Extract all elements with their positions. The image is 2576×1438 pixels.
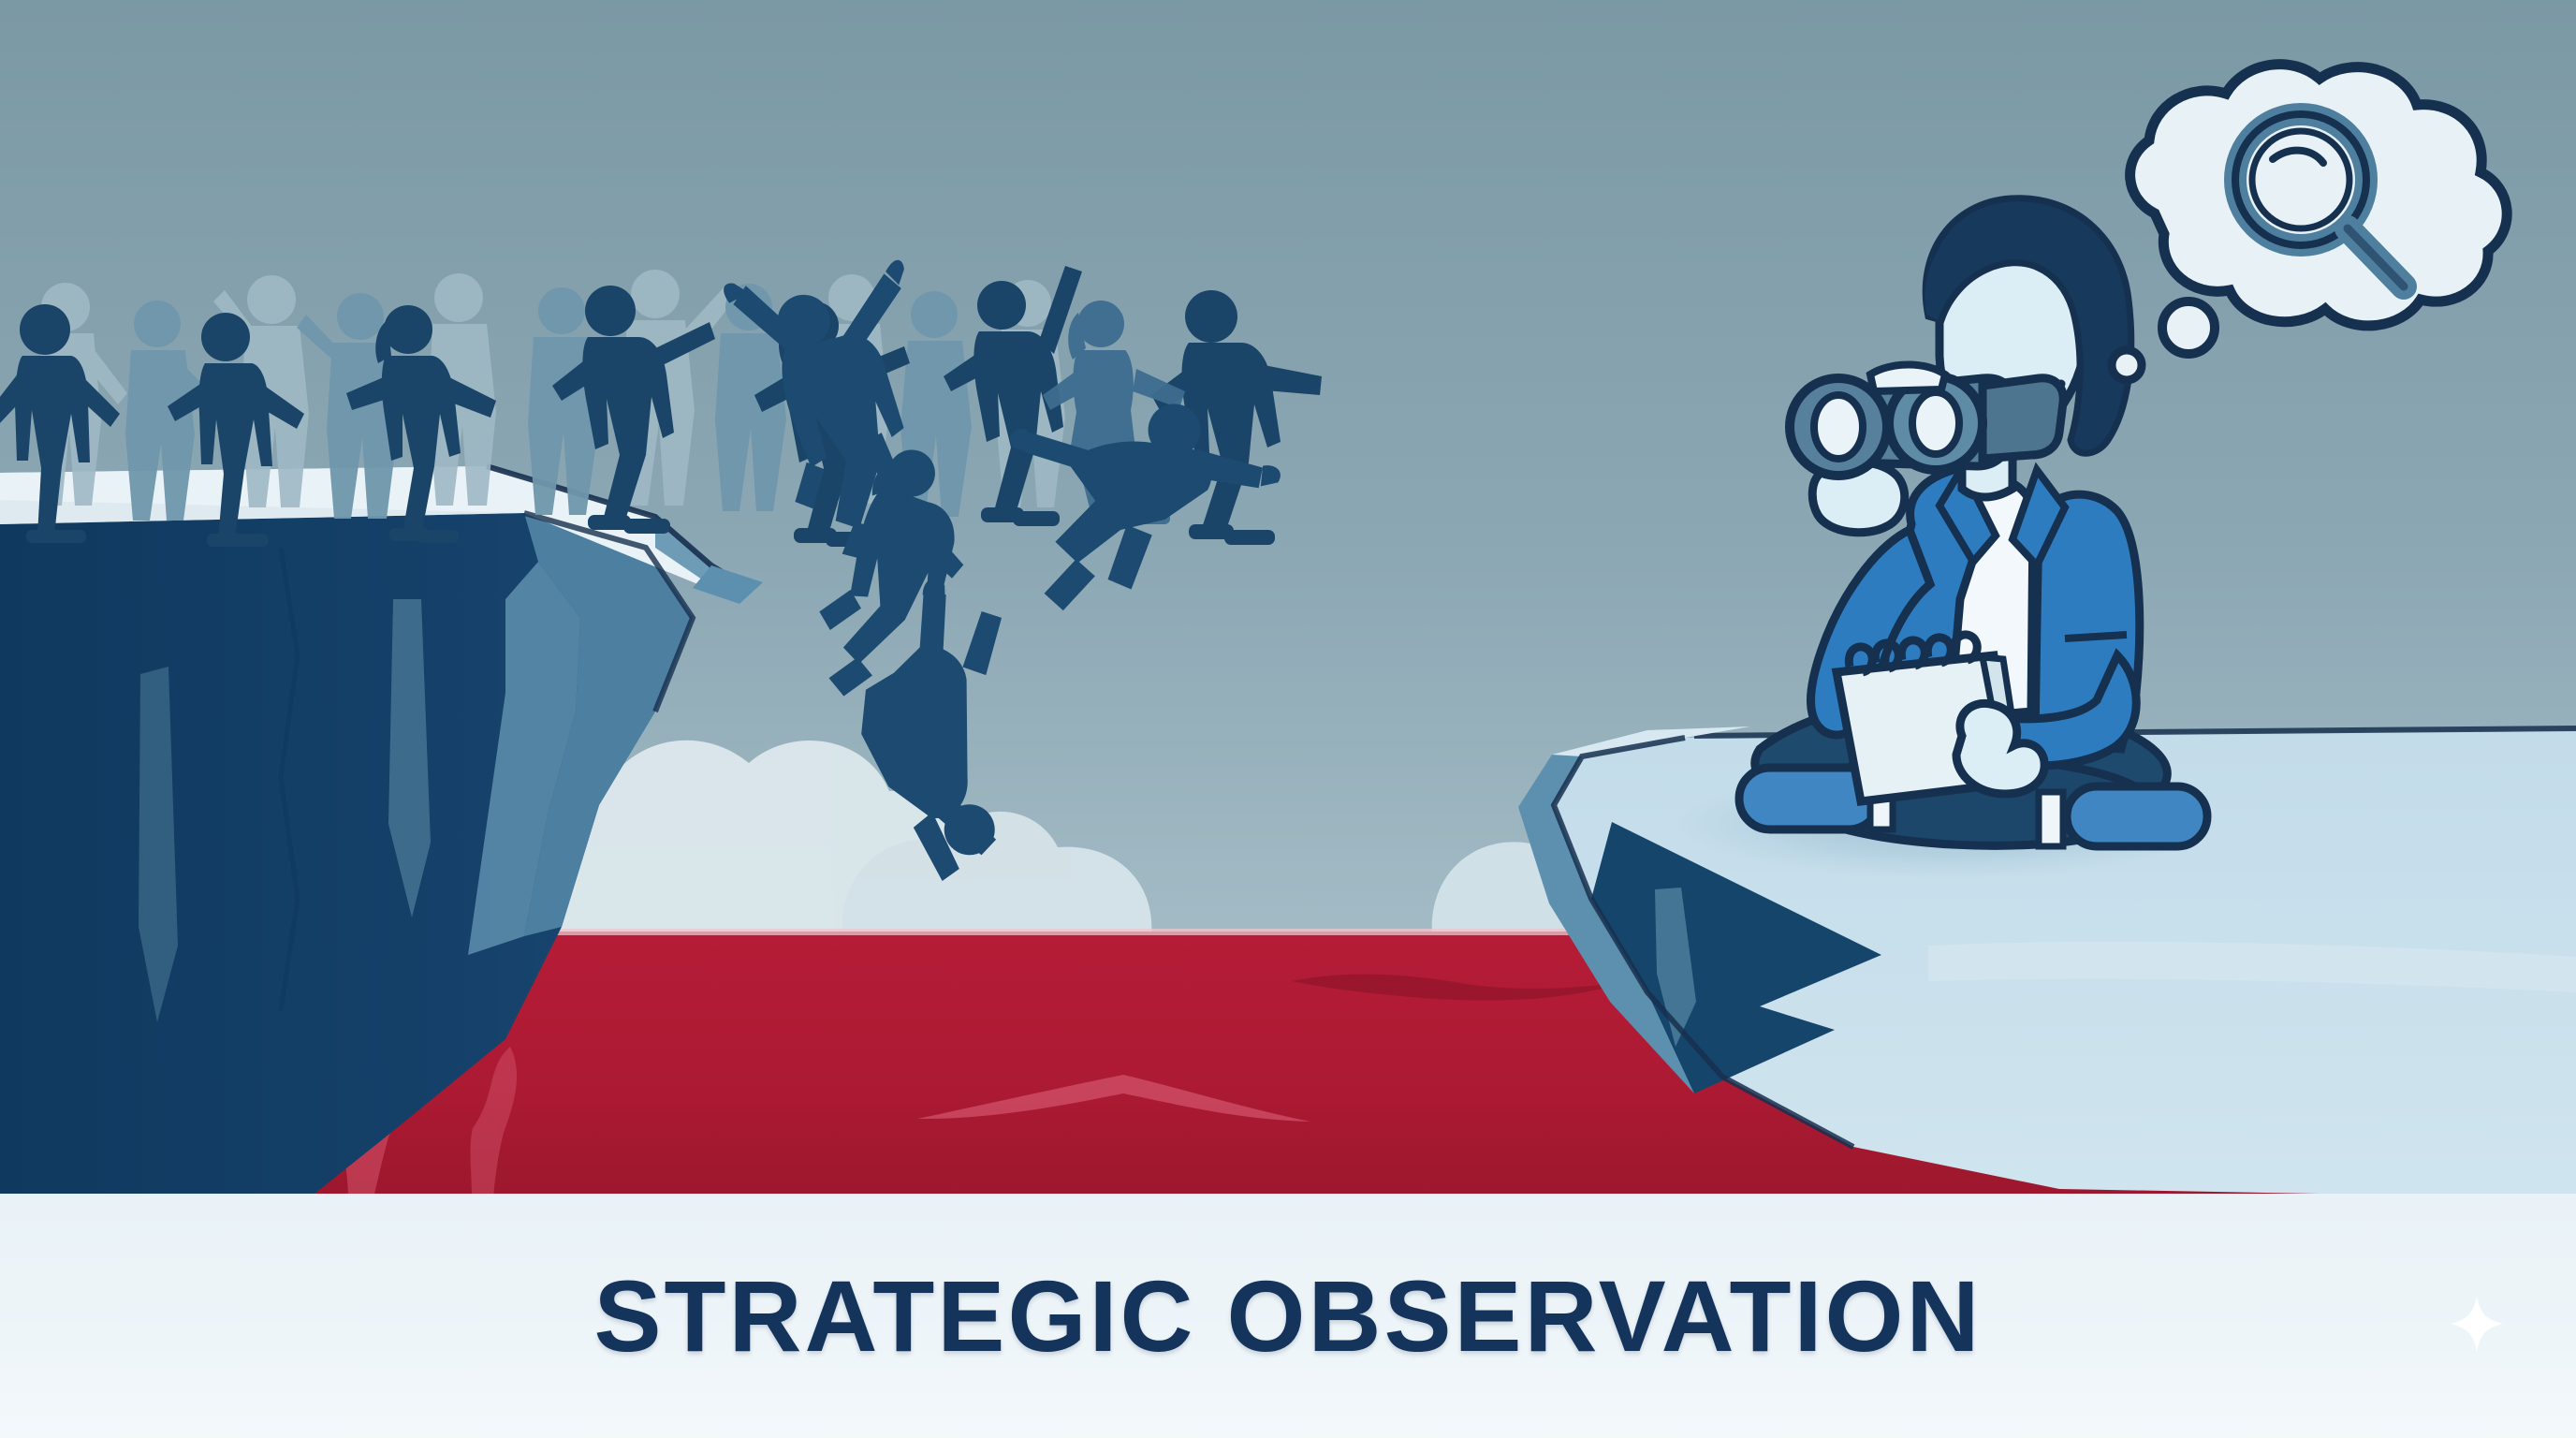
illustration-canvas: STRATEGIC OBSERVATION (0, 0, 2576, 1438)
sparkle-star (2451, 1296, 2503, 1352)
page-title: STRATEGIC OBSERVATION (593, 1266, 1982, 1367)
thought-dot-large (2162, 301, 2215, 354)
binoculars (1790, 365, 2063, 477)
thought-dot-small (2112, 350, 2142, 380)
caption-bar: STRATEGIC OBSERVATION (0, 1194, 2576, 1438)
observer-shoe-right (2067, 786, 2207, 846)
